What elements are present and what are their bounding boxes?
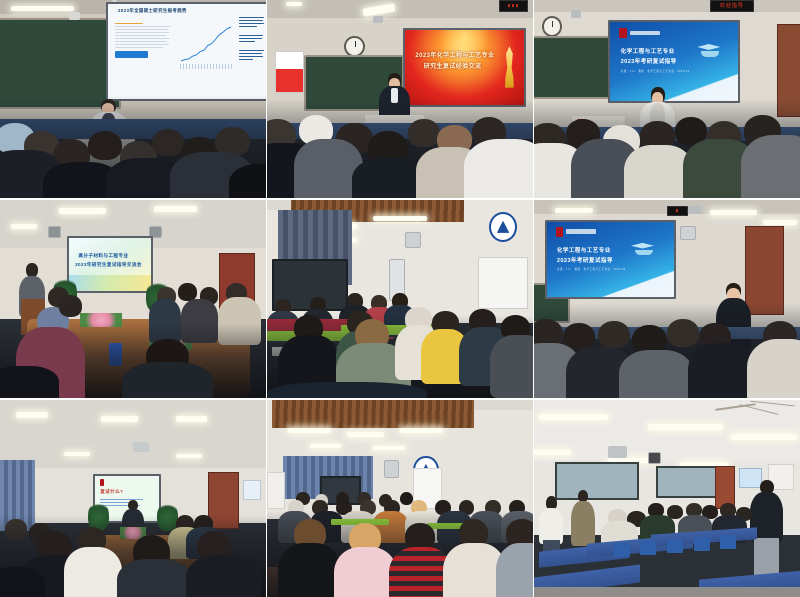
collage-photo-2: ▮▮▮ 2023年化学工程与工艺专业 研究生复试经验交流 <box>267 0 533 198</box>
wall-clock <box>542 16 562 37</box>
wall-poster <box>275 51 304 93</box>
graduation-cap-icon <box>697 44 720 51</box>
collage-photo-6: ▮ 化学工程与工艺专业 2023年考研复试指导 主讲：××× 教授 化学工程与工… <box>534 200 800 398</box>
ceiling-projector <box>608 446 627 458</box>
slide-title-4-line2: 2023年研究生复试指导交流会 <box>75 262 142 268</box>
projection-screen-4: 高分子材料与工程专业 2023年研究生复试指导交流会 <box>67 236 153 293</box>
projection-screen-2: 2023年化学工程与工艺专业 研究生复试经验交流 <box>403 28 527 107</box>
photo-collage: 2023年全国硕士研究生报考趋势 <box>0 0 800 597</box>
graduation-cap-icon <box>631 243 654 250</box>
collage-photo-5 <box>267 200 533 398</box>
collage-photo-1: 2023年全国硕士研究生报考趋势 <box>0 0 266 198</box>
led-sign: 欢迎指导 <box>710 0 755 12</box>
slide-title-2-line1: 2023年化学工程与工艺专业 <box>415 50 494 59</box>
slide-subtitle-6: 主讲：××× 教授 化学工程与工艺专业 2023.02 <box>557 267 626 271</box>
slide-title-1: 2023年全国硕士研究生报考趋势 <box>118 8 187 14</box>
led-sign: ▮ <box>667 206 688 216</box>
slide-subtitle-3: 主讲：××× 教授 化学工程与工艺专业 2023.02 <box>621 69 690 73</box>
slide-title-4-line1: 高分子材料与工程专业 <box>78 253 128 259</box>
collage-photo-3: 欢迎指导 化学工程与工艺专业 2023年考研复试指导 主讲：××× 教授 化学工… <box>534 0 800 198</box>
collage-photo-7: 复试什么? <box>0 400 266 597</box>
projection-screen-6: 化学工程与工艺专业 2023年考研复试指导 主讲：××× 教授 化学工程与工艺专… <box>545 220 677 299</box>
collage-photo-9 <box>534 400 800 597</box>
university-logo <box>556 227 564 237</box>
university-logo <box>100 479 104 485</box>
staff-left-2 <box>571 490 595 546</box>
collage-photo-8 <box>267 400 533 597</box>
chalkboard <box>534 36 618 99</box>
led-sign: ▮▮▮ <box>499 0 528 12</box>
university-logo <box>619 28 627 38</box>
collage-photo-4: 高分子材料与工程专业 2023年研究生复试指导交流会 <box>0 200 266 398</box>
slide-title-6-line1: 化学工程与工艺专业 <box>557 246 611 254</box>
interior-window <box>555 462 639 500</box>
slide-title-3-line2: 2023年考研复试指导 <box>621 57 677 65</box>
slide-title-6-line2: 2023年考研复试指导 <box>557 256 613 264</box>
slide-title-3-line1: 化学工程与工艺专业 <box>621 47 675 55</box>
university-emblem <box>489 212 517 242</box>
slide-title-7: 复试什么? <box>100 489 123 495</box>
interior-window <box>656 466 719 498</box>
ceiling-fan <box>715 400 795 416</box>
slide-line-chart <box>180 25 234 65</box>
slide-title-2-line2: 研究生复试经验交流 <box>424 61 482 70</box>
projection-screen-1: 2023年全国硕士研究生报考趋势 <box>106 2 266 101</box>
